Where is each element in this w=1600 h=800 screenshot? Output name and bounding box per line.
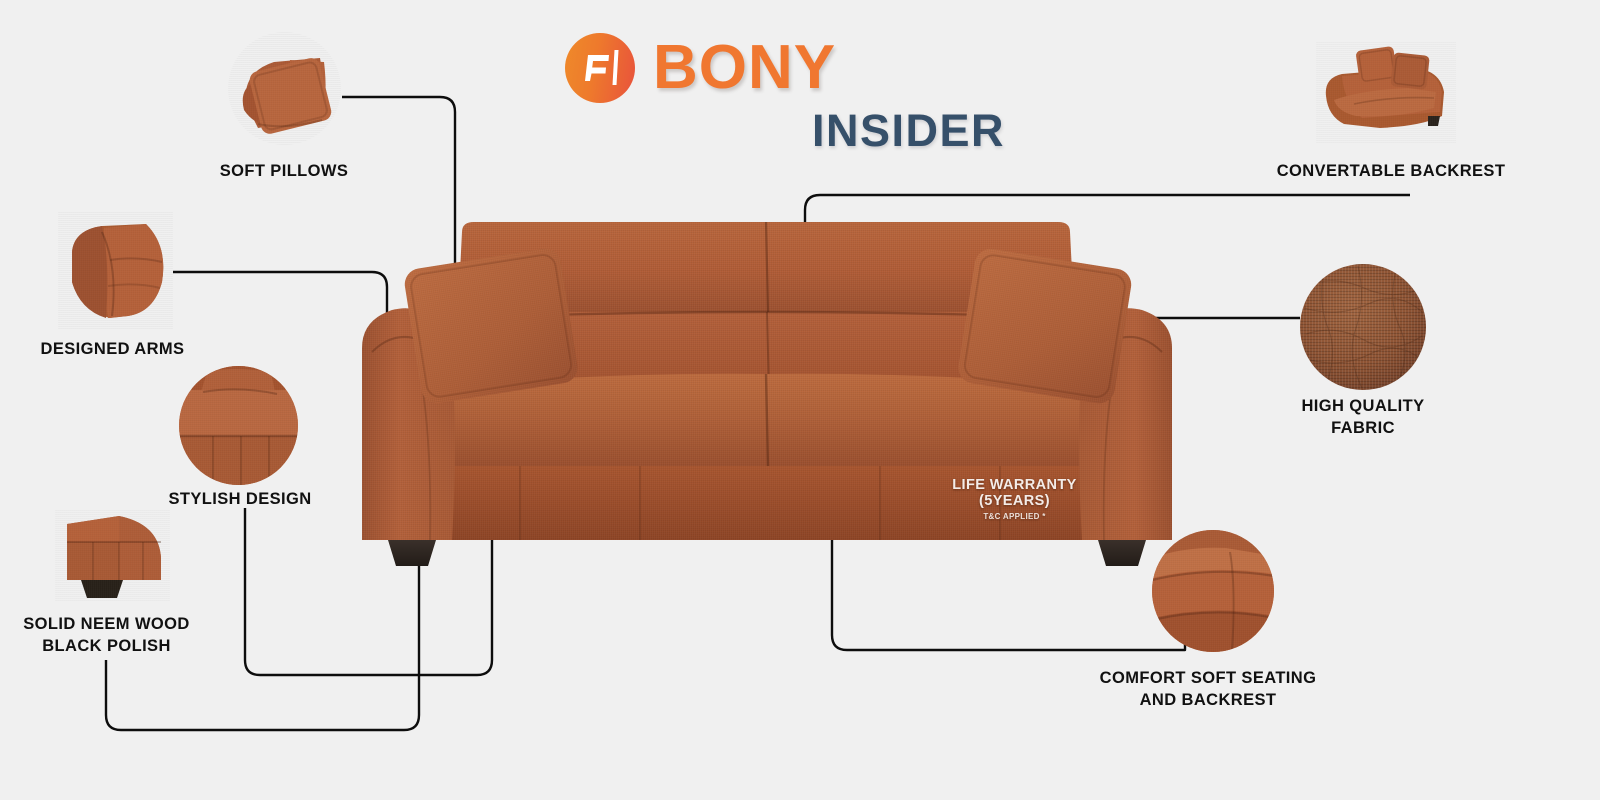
thumbnail-designed-arms	[58, 212, 173, 330]
label-soft-pillows: SOFT PILLOWS	[160, 160, 408, 182]
thumbnail-convertable-backrest	[1316, 42, 1456, 144]
brand-lockup: BONY	[565, 33, 836, 103]
label-designed-arms: DESIGNED ARMS	[0, 338, 225, 360]
connector-comfort-soft-seating	[832, 398, 1185, 650]
connector-convertable-backrest	[805, 195, 1410, 293]
thumbnail-high-quality-fabric	[1300, 264, 1426, 390]
connector-soft-pillows	[342, 97, 492, 291]
warranty-watermark: LIFE WARRANTY (5YEARS) T&C APPLIED *	[932, 478, 1097, 521]
warranty-sub-text: T&C APPLIED *	[932, 512, 1097, 521]
connector-designed-arms	[170, 272, 387, 335]
thumbnail-solid-neem-wood	[55, 510, 170, 602]
label-convertable-backrest: CONVERTABLE BACKREST	[1246, 160, 1536, 182]
label-stylish-design: STYLISH DESIGN	[120, 488, 360, 510]
fi-monogram-icon	[565, 33, 635, 103]
thumbnail-soft-pillows	[228, 32, 341, 145]
label-high-quality-fabric: HIGH QUALITY FABRIC	[1243, 395, 1483, 440]
thumbnail-comfort-soft-seating	[1152, 530, 1274, 652]
brand-title: BONY	[653, 37, 836, 99]
warranty-main-text: LIFE WARRANTY (5YEARS)	[932, 478, 1097, 510]
label-solid-neem-wood: SOLID NEEM WOOD BLACK POLISH	[0, 613, 213, 658]
label-comfort-soft-seating: COMFORT SOFT SEATING AND BACKREST	[1030, 667, 1386, 712]
infographic-canvas: LIFE WARRANTY (5YEARS) T&C APPLIED * BON…	[0, 0, 1600, 800]
brand-subtitle: INSIDER	[812, 108, 1005, 153]
thumbnail-stylish-design	[179, 366, 298, 485]
connector-stylish-design	[245, 508, 492, 675]
